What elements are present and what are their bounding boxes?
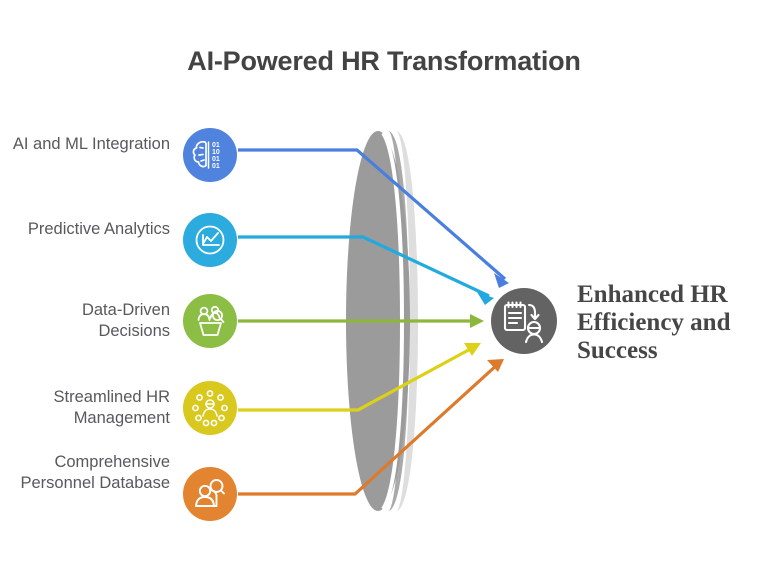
label-data-driven: Data-Driven Decisions — [10, 300, 170, 342]
outcome-label: Enhanced HR Efficiency and Success — [577, 281, 767, 365]
svg-text:01: 01 — [212, 156, 220, 163]
icon-circle-outcome[interactable] — [491, 288, 557, 354]
infographic-canvas: AI-Powered HR Transformation — [0, 0, 768, 576]
icon-background — [183, 128, 237, 182]
icon-circle-predictive[interactable] — [183, 213, 237, 267]
icon-circle-data-driven[interactable] — [183, 294, 237, 348]
arrowhead — [470, 314, 484, 328]
icon-circle-ai-ml[interactable]: 01 10 01 01 — [183, 128, 237, 182]
label-personnel: Comprehensive Personnel Database — [10, 452, 170, 494]
icon-circle-streamlined[interactable] — [183, 381, 237, 435]
svg-text:01: 01 — [212, 142, 220, 149]
icon-circle-personnel[interactable] — [183, 467, 237, 521]
label-streamlined: Streamlined HR Management — [10, 387, 170, 429]
binary-digits: 01 10 01 01 — [212, 142, 220, 170]
icon-background — [183, 294, 237, 348]
label-ai-ml: AI and ML Integration — [10, 134, 170, 155]
label-predictive: Predictive Analytics — [10, 219, 170, 240]
svg-text:10: 10 — [212, 149, 220, 156]
svg-text:01: 01 — [212, 163, 220, 170]
